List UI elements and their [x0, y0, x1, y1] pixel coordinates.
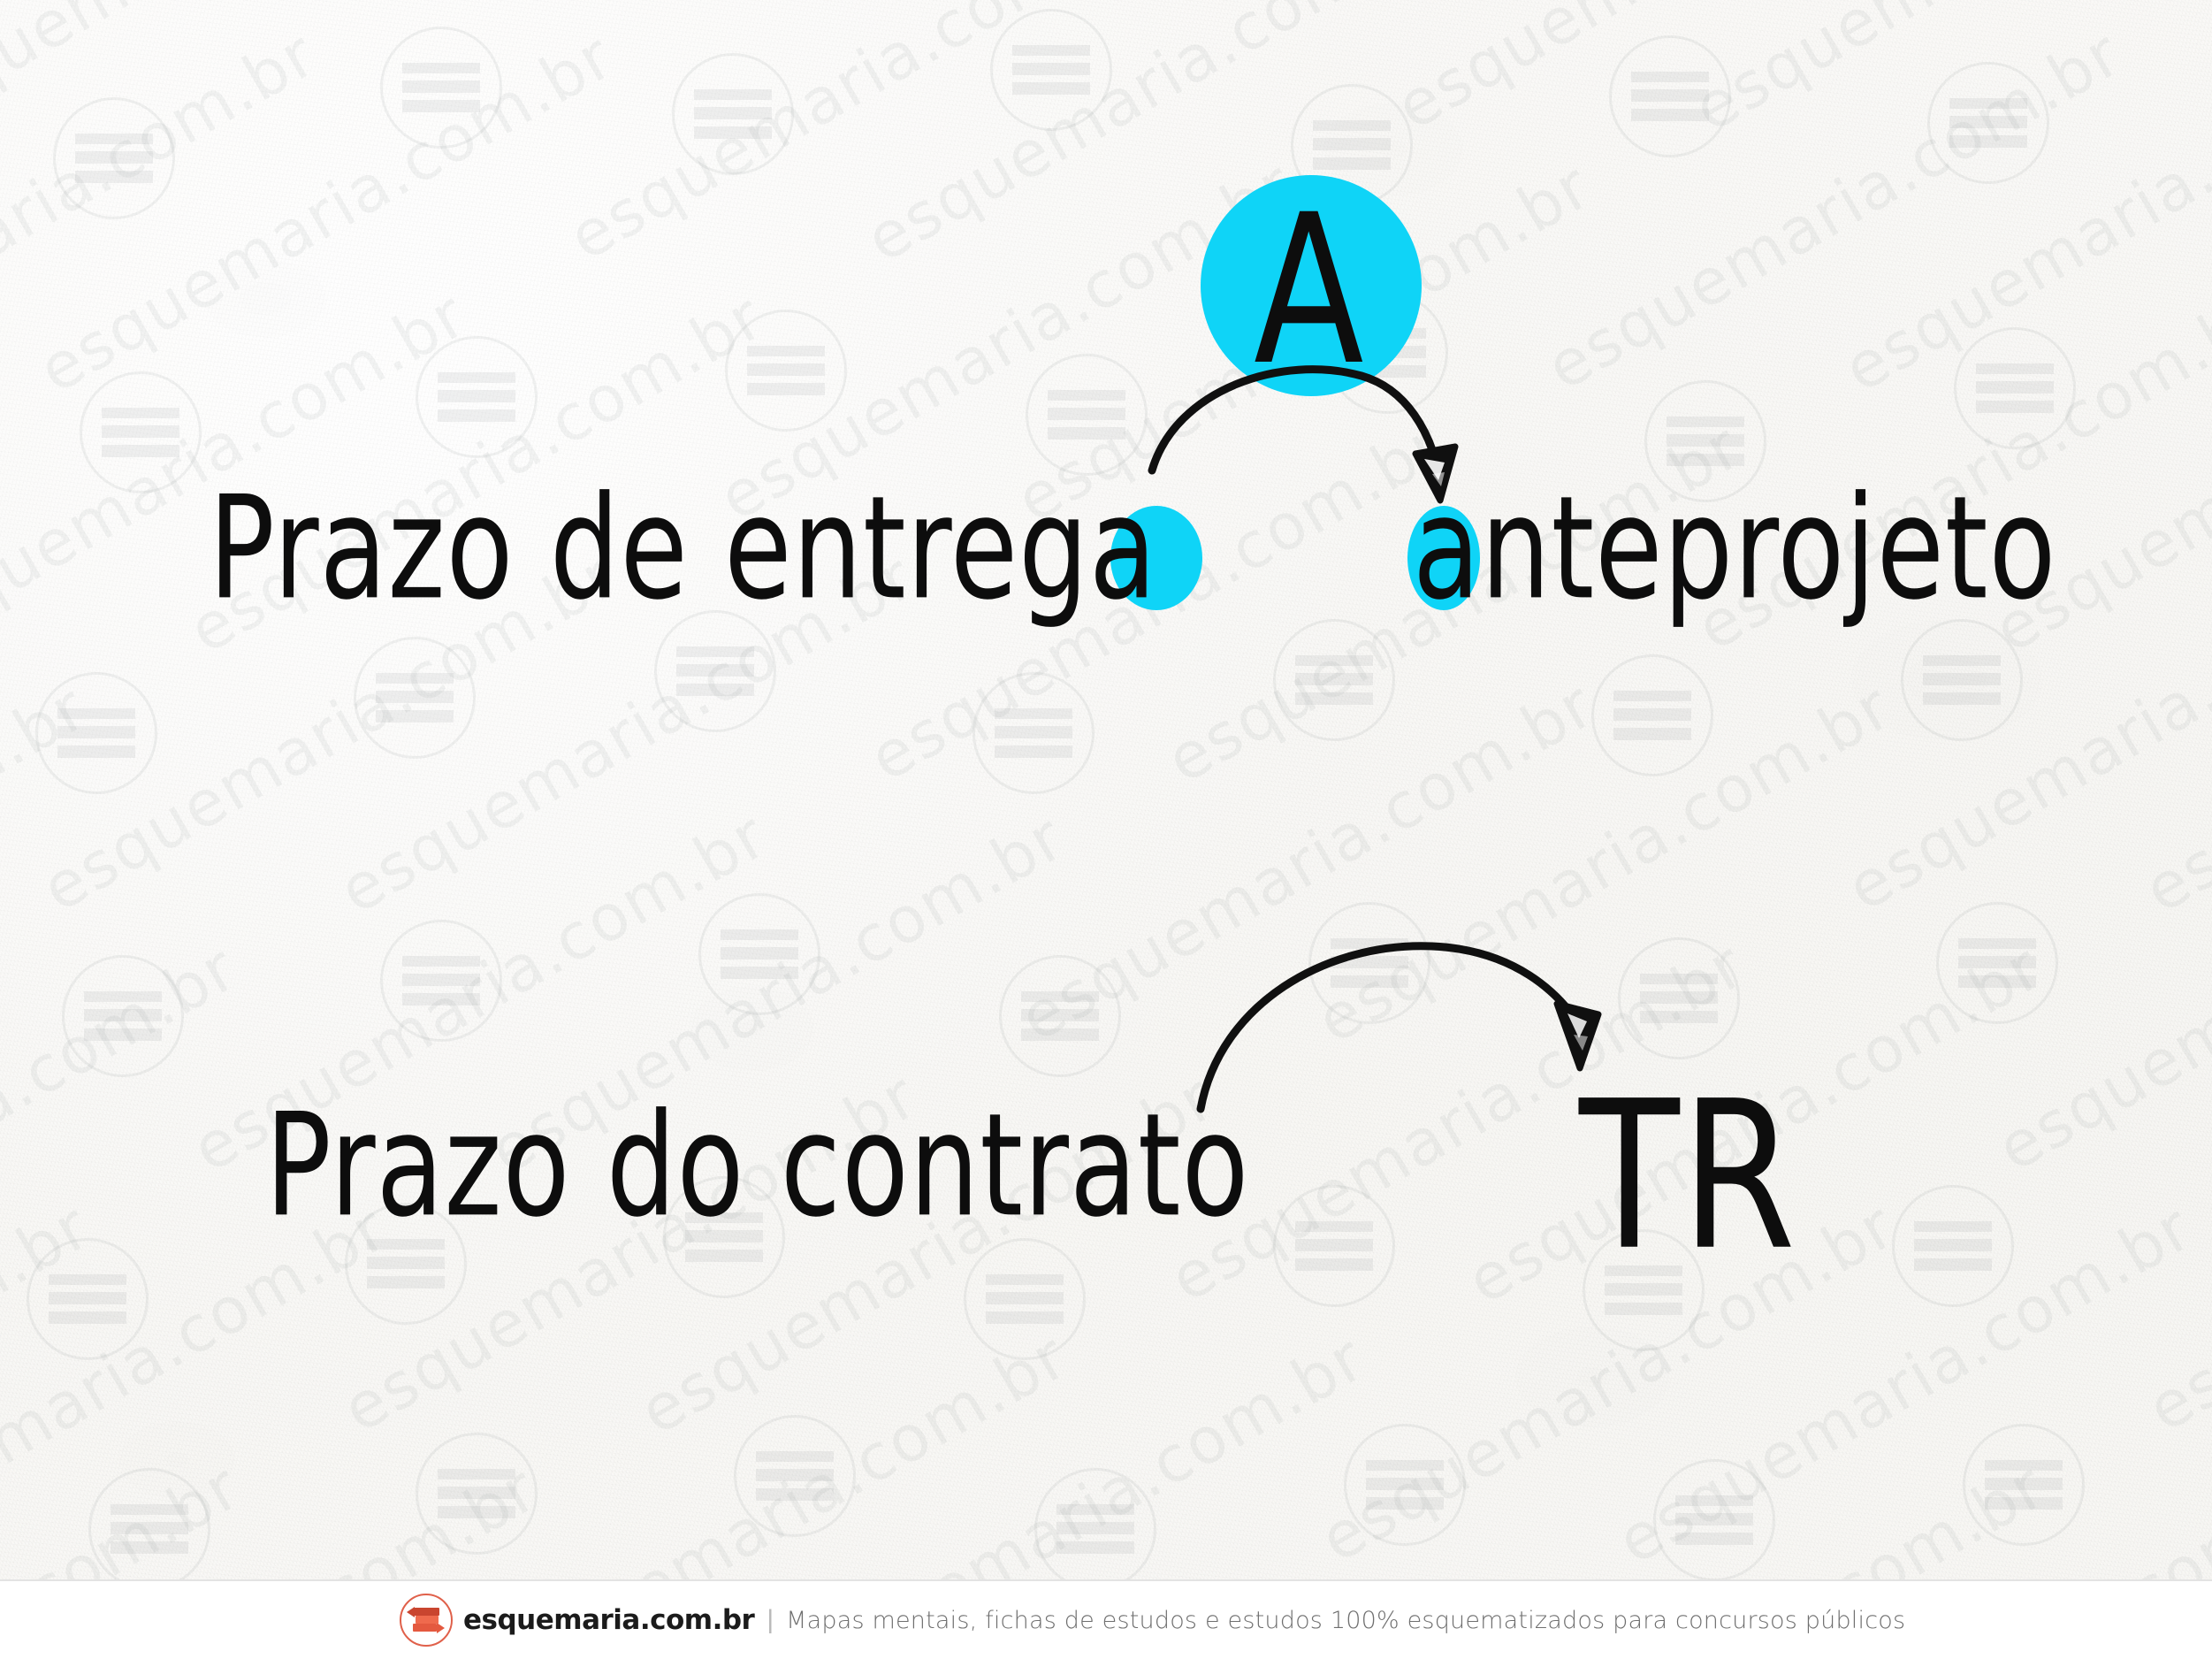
node-label-tr: TR [1579, 1074, 1797, 1279]
logo-arrow-right-icon [437, 1623, 445, 1633]
arrow-contrato-to-tr [1201, 946, 1598, 1109]
footer-brand-name[interactable]: esquemaria.com.br [463, 1604, 754, 1636]
logo-bar-top [413, 1608, 439, 1616]
node-label-anteprojeto: anteprojeto [1413, 478, 2056, 620]
logo-bar-bottom [413, 1624, 437, 1632]
node-label-prazo-de-entrega: Prazo de entrega [209, 478, 1157, 620]
node-label-prazo-do-contrato: Prazo do contrato [265, 1095, 1249, 1237]
footer-bar: esquemaria.com.br | Mapas mentais, ficha… [0, 1579, 2212, 1659]
footer-tagline: Mapas mentais, fichas de estudos e estud… [786, 1607, 1905, 1634]
esquemaria-logo-icon [400, 1594, 453, 1647]
footer-separator: | [767, 1605, 774, 1635]
node-label-a-badge: A [1254, 187, 1361, 394]
diagram-canvas: A Prazo de entrega anteprojeto Prazo do … [0, 0, 2212, 1659]
connector-arrows [0, 0, 2212, 1659]
logo-bar-middle [416, 1616, 439, 1624]
footer-content: esquemaria.com.br | Mapas mentais, ficha… [400, 1594, 1905, 1647]
mindmap-page: esquemaria.com.bresquemaria.com.bresquem… [0, 0, 2212, 1659]
